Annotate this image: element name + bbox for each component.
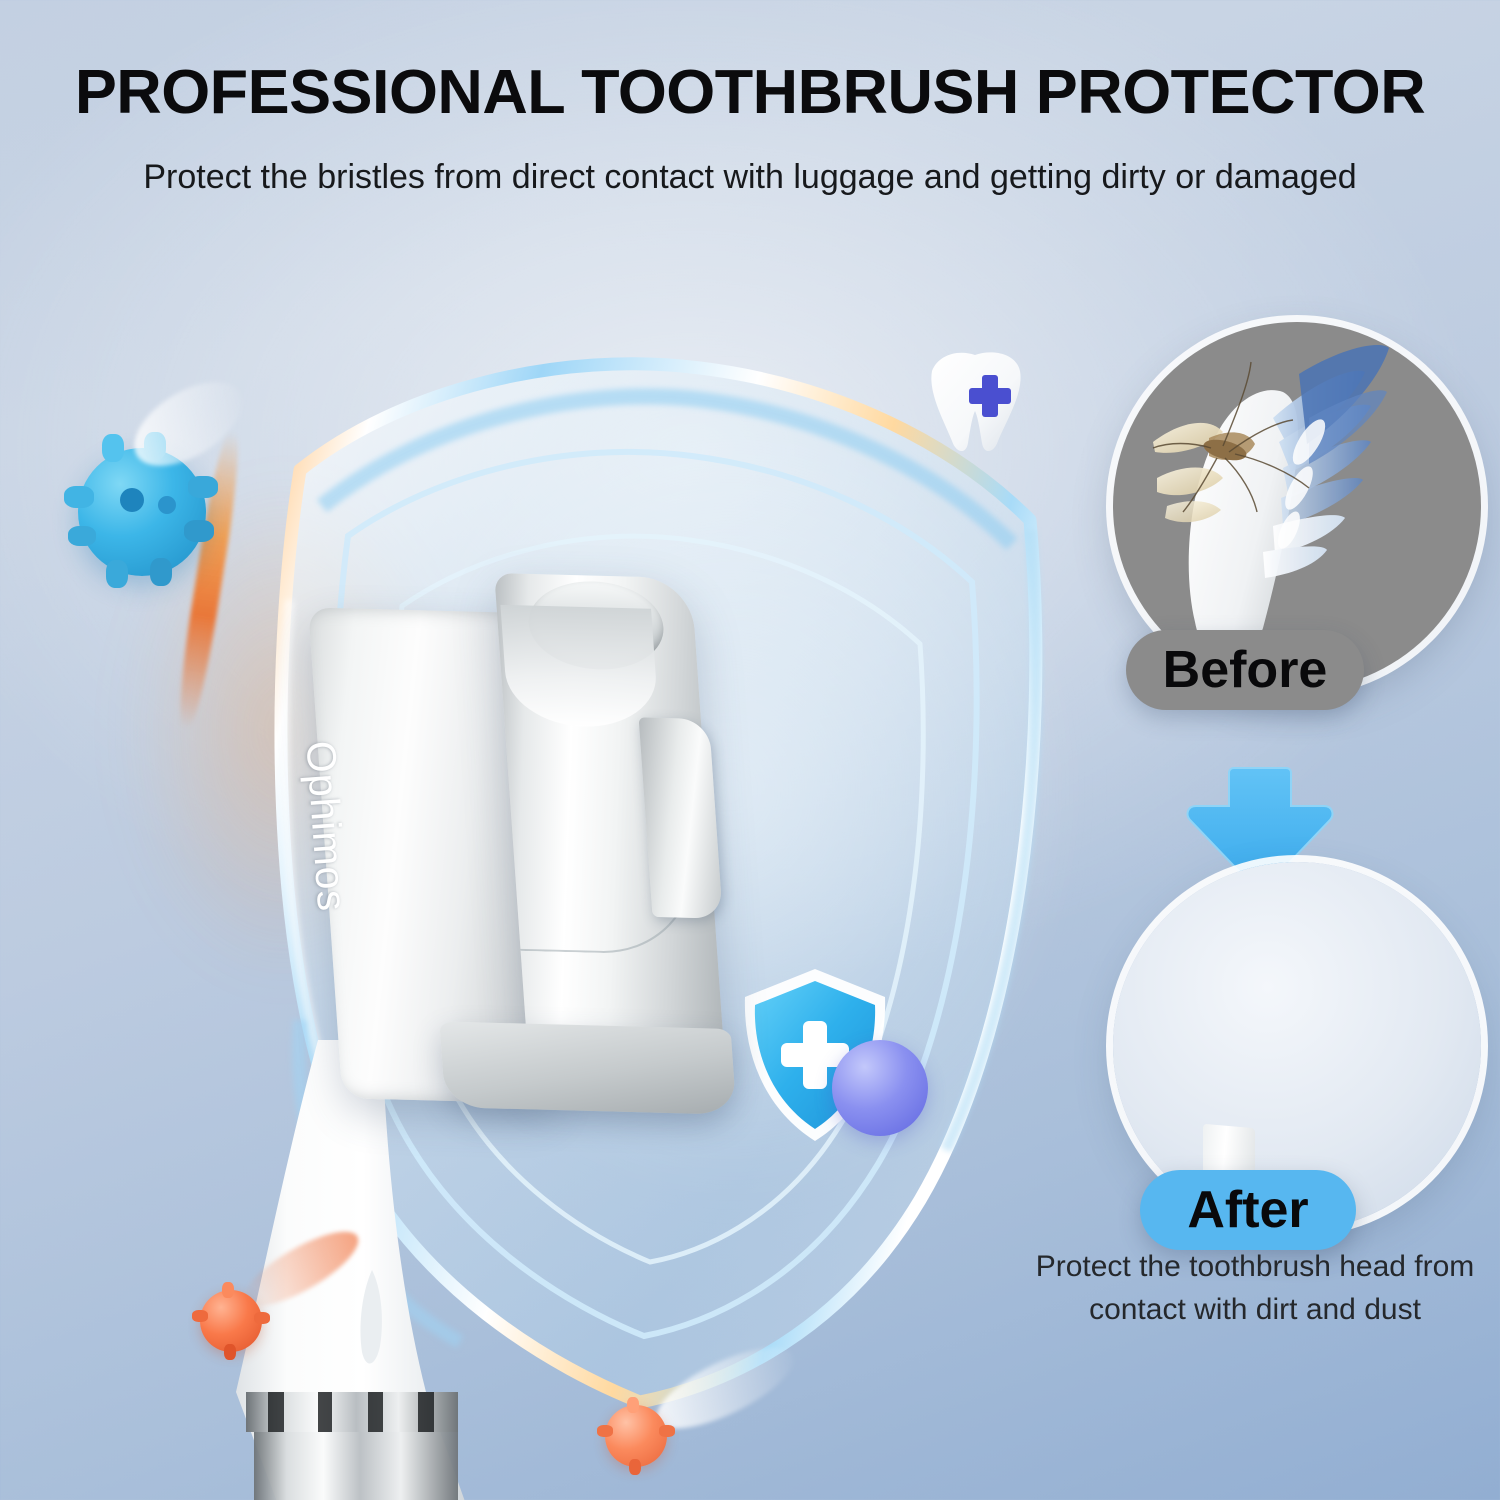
germ-particle-orange-1-icon (200, 1290, 262, 1352)
badge-before: Before (1126, 630, 1364, 710)
germ-particle-violet-icon (832, 1040, 928, 1136)
headline-block: PROFESSIONAL TOOTHBRUSH PROTECTOR Protec… (0, 0, 1500, 205)
cap-side-clip (639, 717, 723, 918)
badge-before-label: Before (1163, 640, 1328, 700)
germ-particle-orange-2-icon (605, 1405, 667, 1467)
after-caption: Protect the toothbrush head from contact… (1010, 1246, 1500, 1331)
product-marketing-canvas: PROFESSIONAL TOOTHBRUSH PROTECTOR Protec… (0, 0, 1500, 1500)
badge-after: After (1140, 1170, 1356, 1250)
page-title: PROFESSIONAL TOOTHBRUSH PROTECTOR (0, 62, 1500, 124)
page-subtitle: Protect the bristles from direct contact… (140, 150, 1360, 205)
toothbrush-protector-cap: Ophimos (299, 559, 807, 1150)
badge-after-label: After (1187, 1180, 1308, 1240)
germ-particle-blue-icon (78, 448, 206, 576)
tooth-with-cross-icon (920, 345, 1030, 465)
cap-base (439, 1021, 736, 1114)
